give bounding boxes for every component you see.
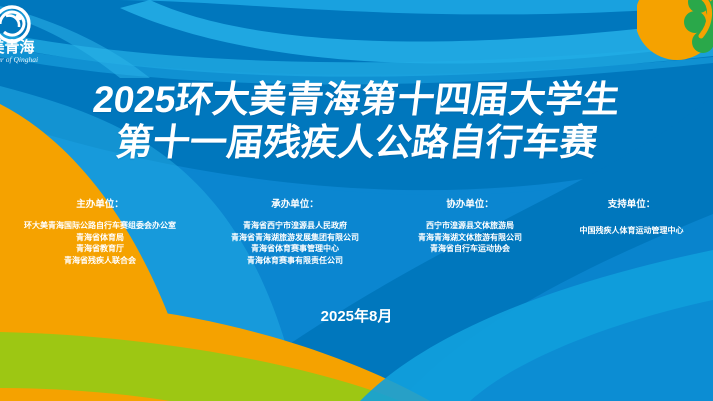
credit-item: 青海省体育赛事管理中心 <box>200 243 390 255</box>
credit-header-organizer: 承办单位： <box>200 198 390 211</box>
credit-item: 西宁市湟源县文体旅游局 <box>390 220 550 232</box>
flower-emblem-logo <box>637 0 713 70</box>
credit-column-organizer: 承办单位： 青海省西宁市湟源县人民政府 青海省青海湖旅游发展集团有限公司 青海省… <box>200 198 390 266</box>
credit-list-supporter: 中国残疾人体育运动管理中心 <box>550 225 713 237</box>
logo-left-subtext: Tour of Qinghai <box>0 55 38 64</box>
credit-item: 青海省体育局 <box>0 232 200 244</box>
credit-header-supporter: 支持单位： <box>550 198 713 211</box>
huandameiqinghai-logo: 美青海 Tour of Qinghai <box>0 2 92 66</box>
credit-list-coorganizer: 西宁市湟源县文体旅游局 青海青海湖文体旅游有限公司 青海省自行车运动协会 <box>390 220 550 255</box>
credit-list-host: 环大美青海国际公路自行车赛组委会办公室 青海省体育局 青海省教育厅 青海省残疾人… <box>0 220 200 266</box>
credit-column-host: 主办单位： 环大美青海国际公路自行车赛组委会办公室 青海省体育局 青海省教育厅 … <box>0 198 200 266</box>
credit-item: 青海青海湖文体旅游有限公司 <box>390 232 550 244</box>
credit-item: 青海省西宁市湟源县人民政府 <box>200 220 390 232</box>
event-date: 2025年8月 <box>0 305 713 326</box>
credit-item: 中国残疾人体育运动管理中心 <box>550 225 713 237</box>
credit-item: 青海省青海湖旅游发展集团有限公司 <box>200 232 390 244</box>
organizer-credits: 主办单位： 环大美青海国际公路自行车赛组委会办公室 青海省体育局 青海省教育厅 … <box>0 198 713 266</box>
credit-header-coorganizer: 协办单位： <box>390 198 550 211</box>
credit-list-organizer: 青海省西宁市湟源县人民政府 青海省青海湖旅游发展集团有限公司 青海省体育赛事管理… <box>200 220 390 266</box>
credit-item: 青海体育赛事有限责任公司 <box>200 255 390 267</box>
poster-title: 2025环大美青海第十四届大学生 第十一届残疾人公路自行车赛 <box>0 78 713 164</box>
logo-left-text: 美青海 <box>0 38 35 56</box>
credit-item: 环大美青海国际公路自行车赛组委会办公室 <box>0 220 200 232</box>
credit-item: 青海省自行车运动协会 <box>390 243 550 255</box>
title-line-2: 第十一届残疾人公路自行车赛 <box>0 121 713 164</box>
credit-item: 青海省残疾人联合会 <box>0 255 200 267</box>
credit-column-supporter: 支持单位： 中国残疾人体育运动管理中心 <box>550 198 713 237</box>
title-line-1: 2025环大美青海第十四届大学生 <box>0 78 713 121</box>
credit-item: 青海省教育厅 <box>0 243 200 255</box>
credit-column-coorganizer: 协办单位： 西宁市湟源县文体旅游局 青海青海湖文体旅游有限公司 青海省自行车运动… <box>390 198 550 255</box>
credit-header-host: 主办单位： <box>0 198 200 211</box>
poster-canvas: 美青海 Tour of Qinghai 2025环大美青海第十四届大学生 第十一… <box>0 0 713 401</box>
